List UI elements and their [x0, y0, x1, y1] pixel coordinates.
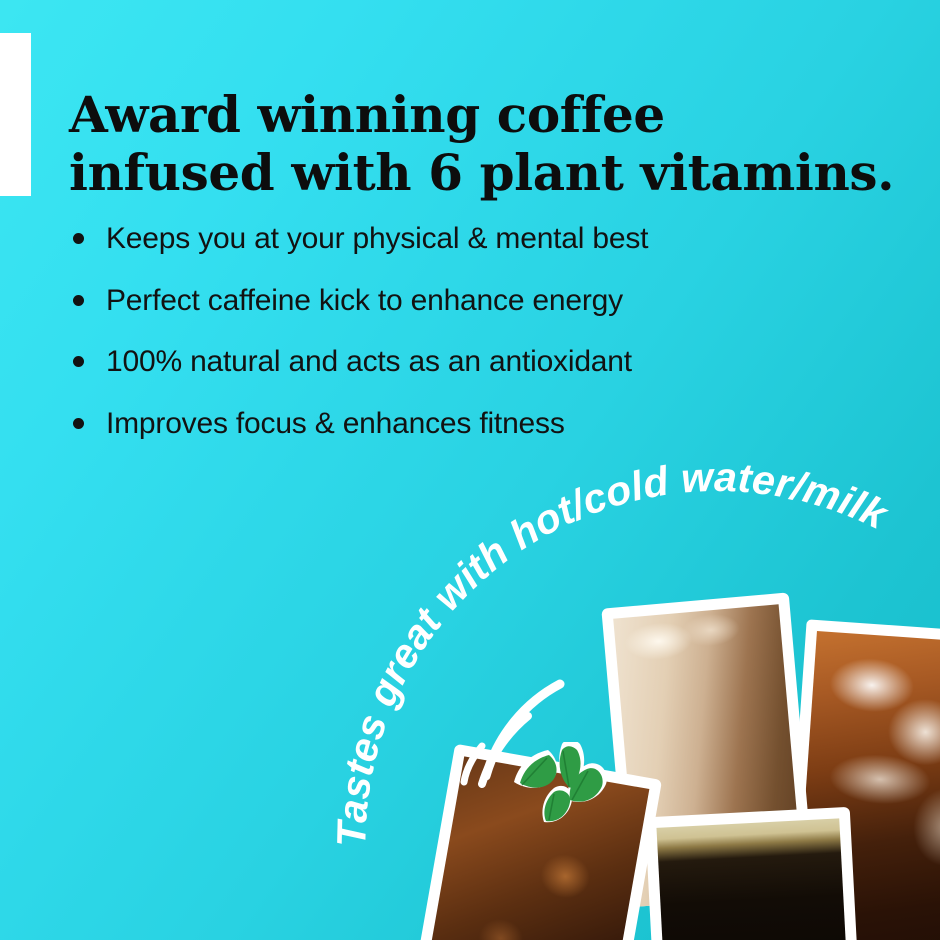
drink-image: [416, 756, 650, 940]
list-item: Improves focus & enhances fitness: [69, 407, 849, 441]
drink-photo-iced-coffee-mint: [412, 744, 662, 940]
benefit-label: Perfect caffeine kick to enhance energy: [106, 284, 623, 317]
promo-poster: Award winning coffee infused with 6 plan…: [0, 0, 940, 940]
page-title: Award winning coffee infused with 6 plan…: [69, 86, 899, 203]
benefit-label: Improves focus & enhances fitness: [106, 407, 565, 440]
bullet-dot-icon: [73, 233, 84, 244]
benefit-label: 100% natural and acts as an antioxidant: [106, 345, 632, 378]
corner-tab-decoration: [0, 33, 31, 196]
list-item: Keeps you at your physical & mental best: [69, 222, 849, 256]
benefit-label: Keeps you at your physical & mental best: [106, 222, 648, 255]
list-item: 100% natural and acts as an antioxidant: [69, 345, 849, 379]
headline-line-1: Award winning coffee: [69, 86, 899, 145]
bullet-dot-icon: [73, 418, 84, 429]
drink-photo-black-coffee: [645, 807, 860, 940]
bullet-dot-icon: [73, 356, 84, 367]
bullet-dot-icon: [73, 295, 84, 306]
benefits-list: Keeps you at your physical & mental best…: [69, 222, 849, 468]
list-item: Perfect caffeine kick to enhance energy: [69, 284, 849, 318]
drink-image: [656, 818, 851, 940]
headline-line-2: infused with 6 plant vitamins.: [69, 144, 899, 203]
